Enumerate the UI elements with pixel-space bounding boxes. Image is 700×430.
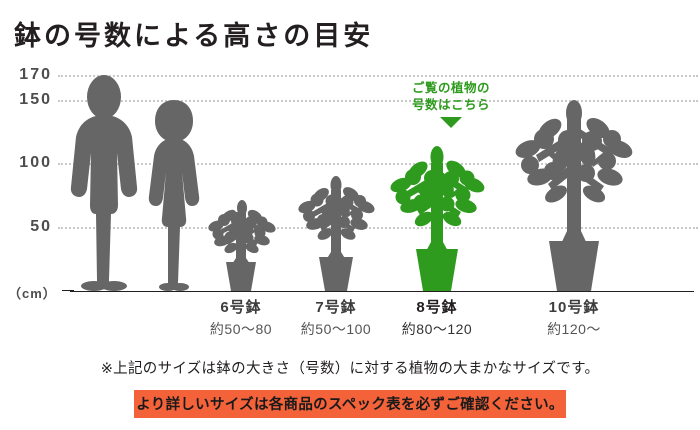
human-silhouette-female xyxy=(146,100,202,291)
y-tick-100: 100 xyxy=(0,154,52,172)
y-axis-unit-label: （cm） xyxy=(8,283,57,302)
plant-7gou xyxy=(293,160,379,291)
category-range: 約120〜 xyxy=(504,319,644,339)
callout-line-1: ご覧の植物の xyxy=(398,80,504,97)
callout-down-arrow-icon xyxy=(440,117,462,128)
plot-area: 170 150 100 50 xyxy=(0,66,700,294)
y-tick-150: 150 xyxy=(0,91,52,109)
plant-6gou xyxy=(202,186,280,291)
gridline-170 xyxy=(58,75,698,77)
y-tick-50: 50 xyxy=(0,218,52,236)
category-label-8gou: 8号鉢 約80〜120 xyxy=(367,296,507,339)
category-label-10gou: 10号鉢 約120〜 xyxy=(504,296,644,339)
highlight-callout: ご覧の植物の 号数はこちら xyxy=(398,80,504,114)
callout-line-2: 号数はこちら xyxy=(398,97,504,114)
y-tick-170: 170 xyxy=(0,66,52,84)
footnote-highlighted: より詳しいサイズは各商品のスペック表を必ずご確認ください。 xyxy=(134,390,565,418)
human-silhouette-male xyxy=(70,75,138,291)
category-name: 10号鉢 xyxy=(504,296,644,317)
category-name: 8号鉢 xyxy=(367,296,507,317)
plant-8gou-highlighted xyxy=(384,129,490,291)
page-title: 鉢の号数による高さの目安 xyxy=(14,14,373,53)
chart-baseline xyxy=(70,291,694,292)
category-range: 約80〜120 xyxy=(367,319,507,339)
pot-size-height-chart: 鉢の号数による高さの目安 170 150 100 50 xyxy=(0,0,700,430)
footnote-general: ※上記のサイズは鉢の大きさ（号数）に対する植物の大まかなサイズです。 xyxy=(0,357,700,378)
plant-10gou xyxy=(508,91,640,291)
footnote-highlight-wrap: より詳しいサイズは各商品のスペック表を必ずご確認ください。 xyxy=(0,390,700,418)
